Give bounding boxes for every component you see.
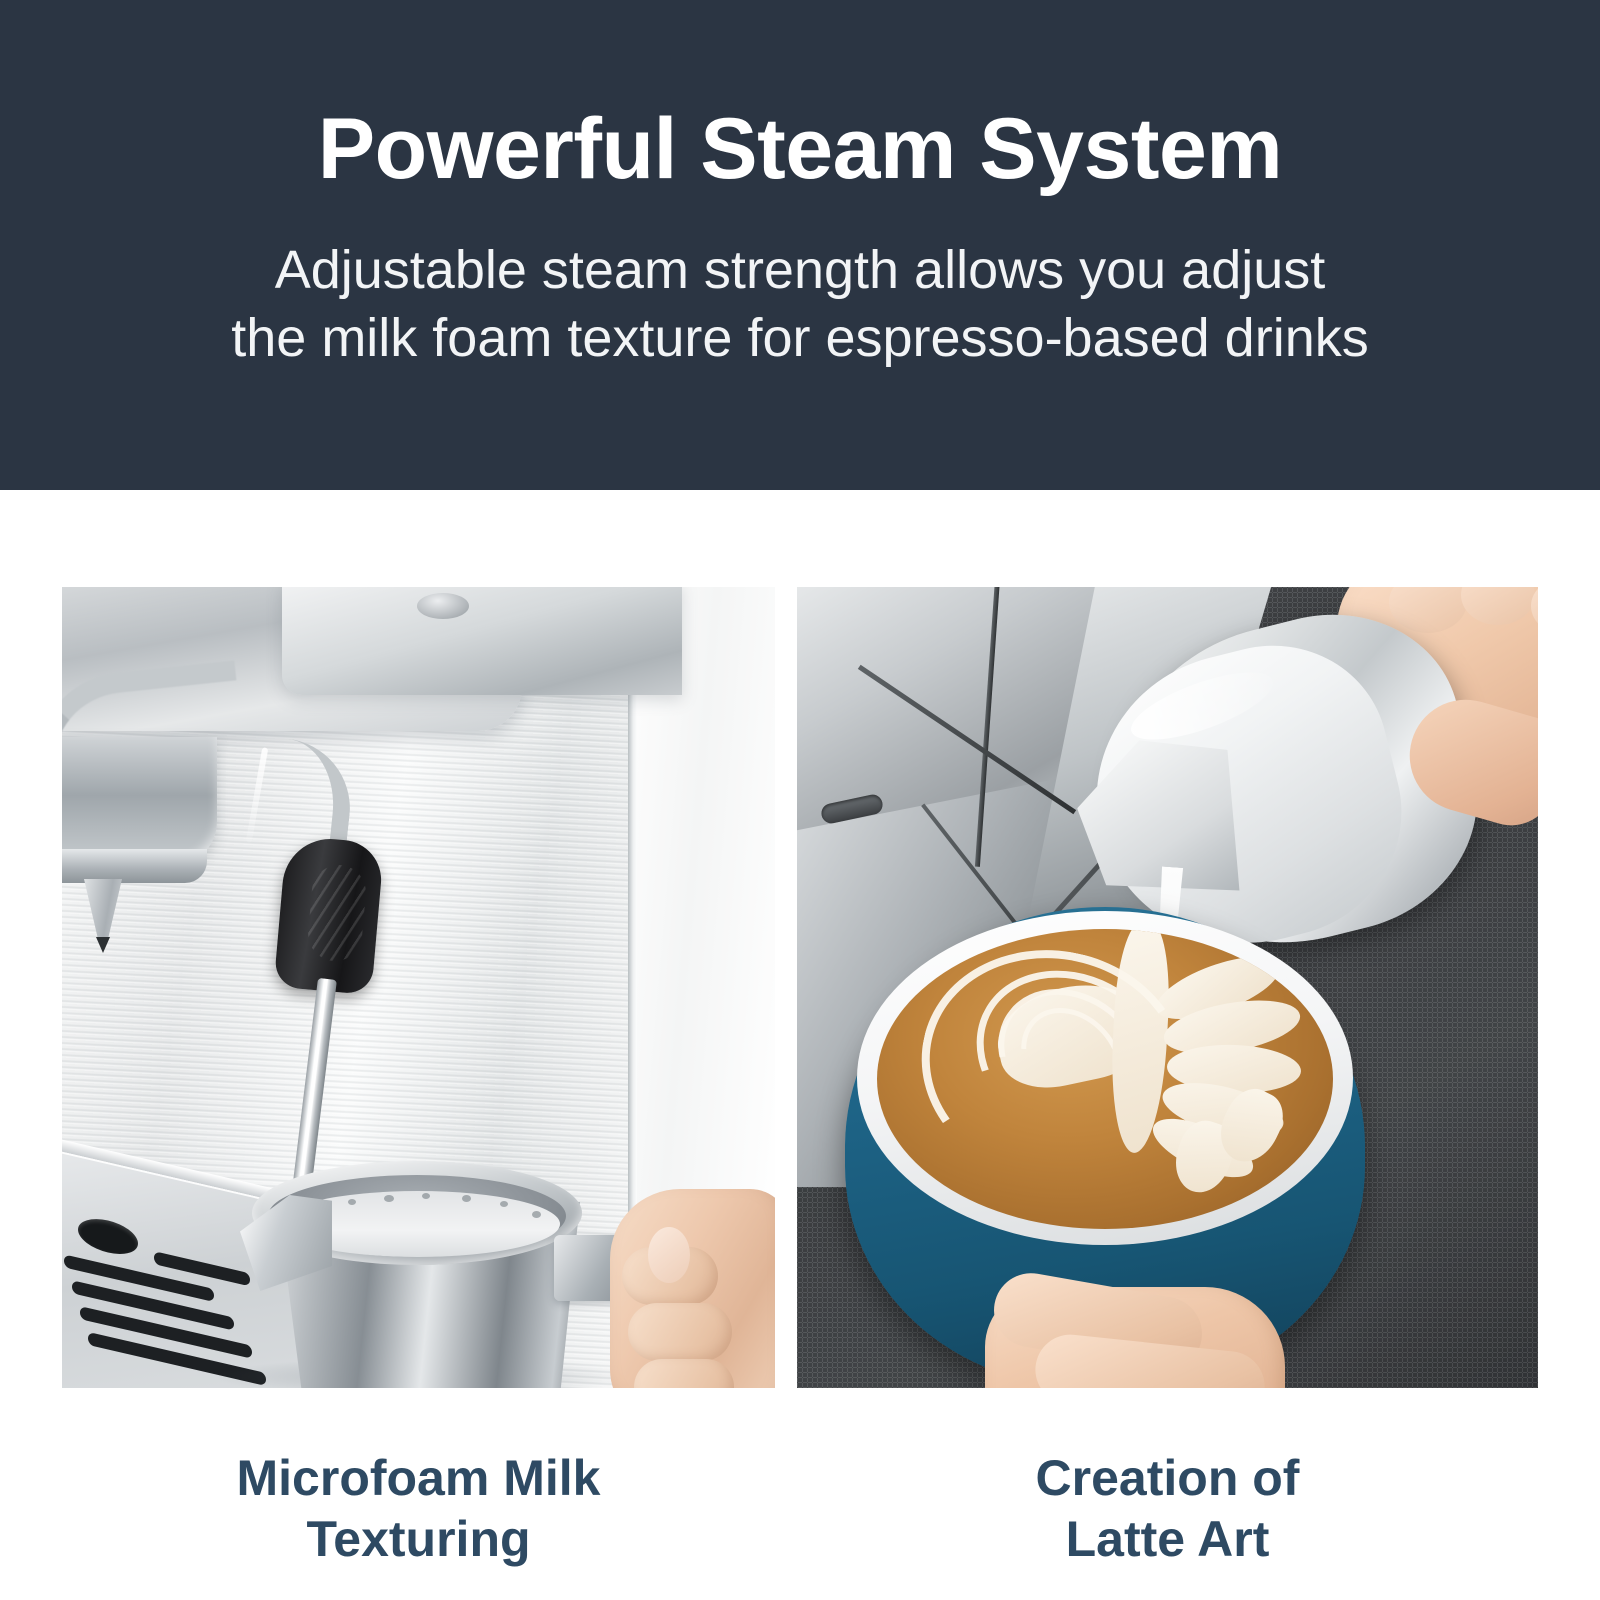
caption-line-2: Texturing [62,1509,775,1570]
finger [634,1359,734,1388]
photo-microfoam-milk-texturing [62,587,775,1388]
foam-bubble [348,1199,356,1205]
caption-line-2: Latte Art [797,1509,1538,1570]
rosetta-latte-art [877,929,1333,1229]
foam-bubble [532,1211,541,1218]
subtitle-line-2: the milk foam texture for espresso-based… [231,304,1368,372]
caption-line-1: Microfoam Milk [62,1448,775,1509]
group-head [62,737,217,867]
feature-panel-latte-art: Creation of Latte Art [797,587,1538,1570]
fingernail [648,1227,690,1283]
machine-knob [417,593,469,619]
finger [628,1303,732,1361]
feature-panel-microfoam: Microfoam Milk Texturing [62,587,775,1570]
feature-panels: Microfoam Milk Texturing [0,490,1600,1600]
foam-bubble [500,1201,508,1207]
page-title: Powerful Steam System [318,106,1283,192]
machine-top-panel [282,587,682,695]
page-subtitle: Adjustable steam strength allows you adj… [231,236,1368,372]
photo-creation-of-latte-art [797,587,1538,1388]
caption-microfoam: Microfoam Milk Texturing [62,1448,775,1570]
caption-latte-art: Creation of Latte Art [797,1448,1538,1570]
foam-bubble [422,1193,430,1199]
header-banner: Powerful Steam System Adjustable steam s… [0,0,1600,490]
caption-line-1: Creation of [797,1448,1538,1509]
portafilter-ring [62,849,207,883]
subtitle-line-1: Adjustable steam strength allows you adj… [231,236,1368,304]
foam-bubble [384,1195,394,1202]
foam-bubble [462,1195,471,1202]
crema-surface [877,929,1333,1229]
